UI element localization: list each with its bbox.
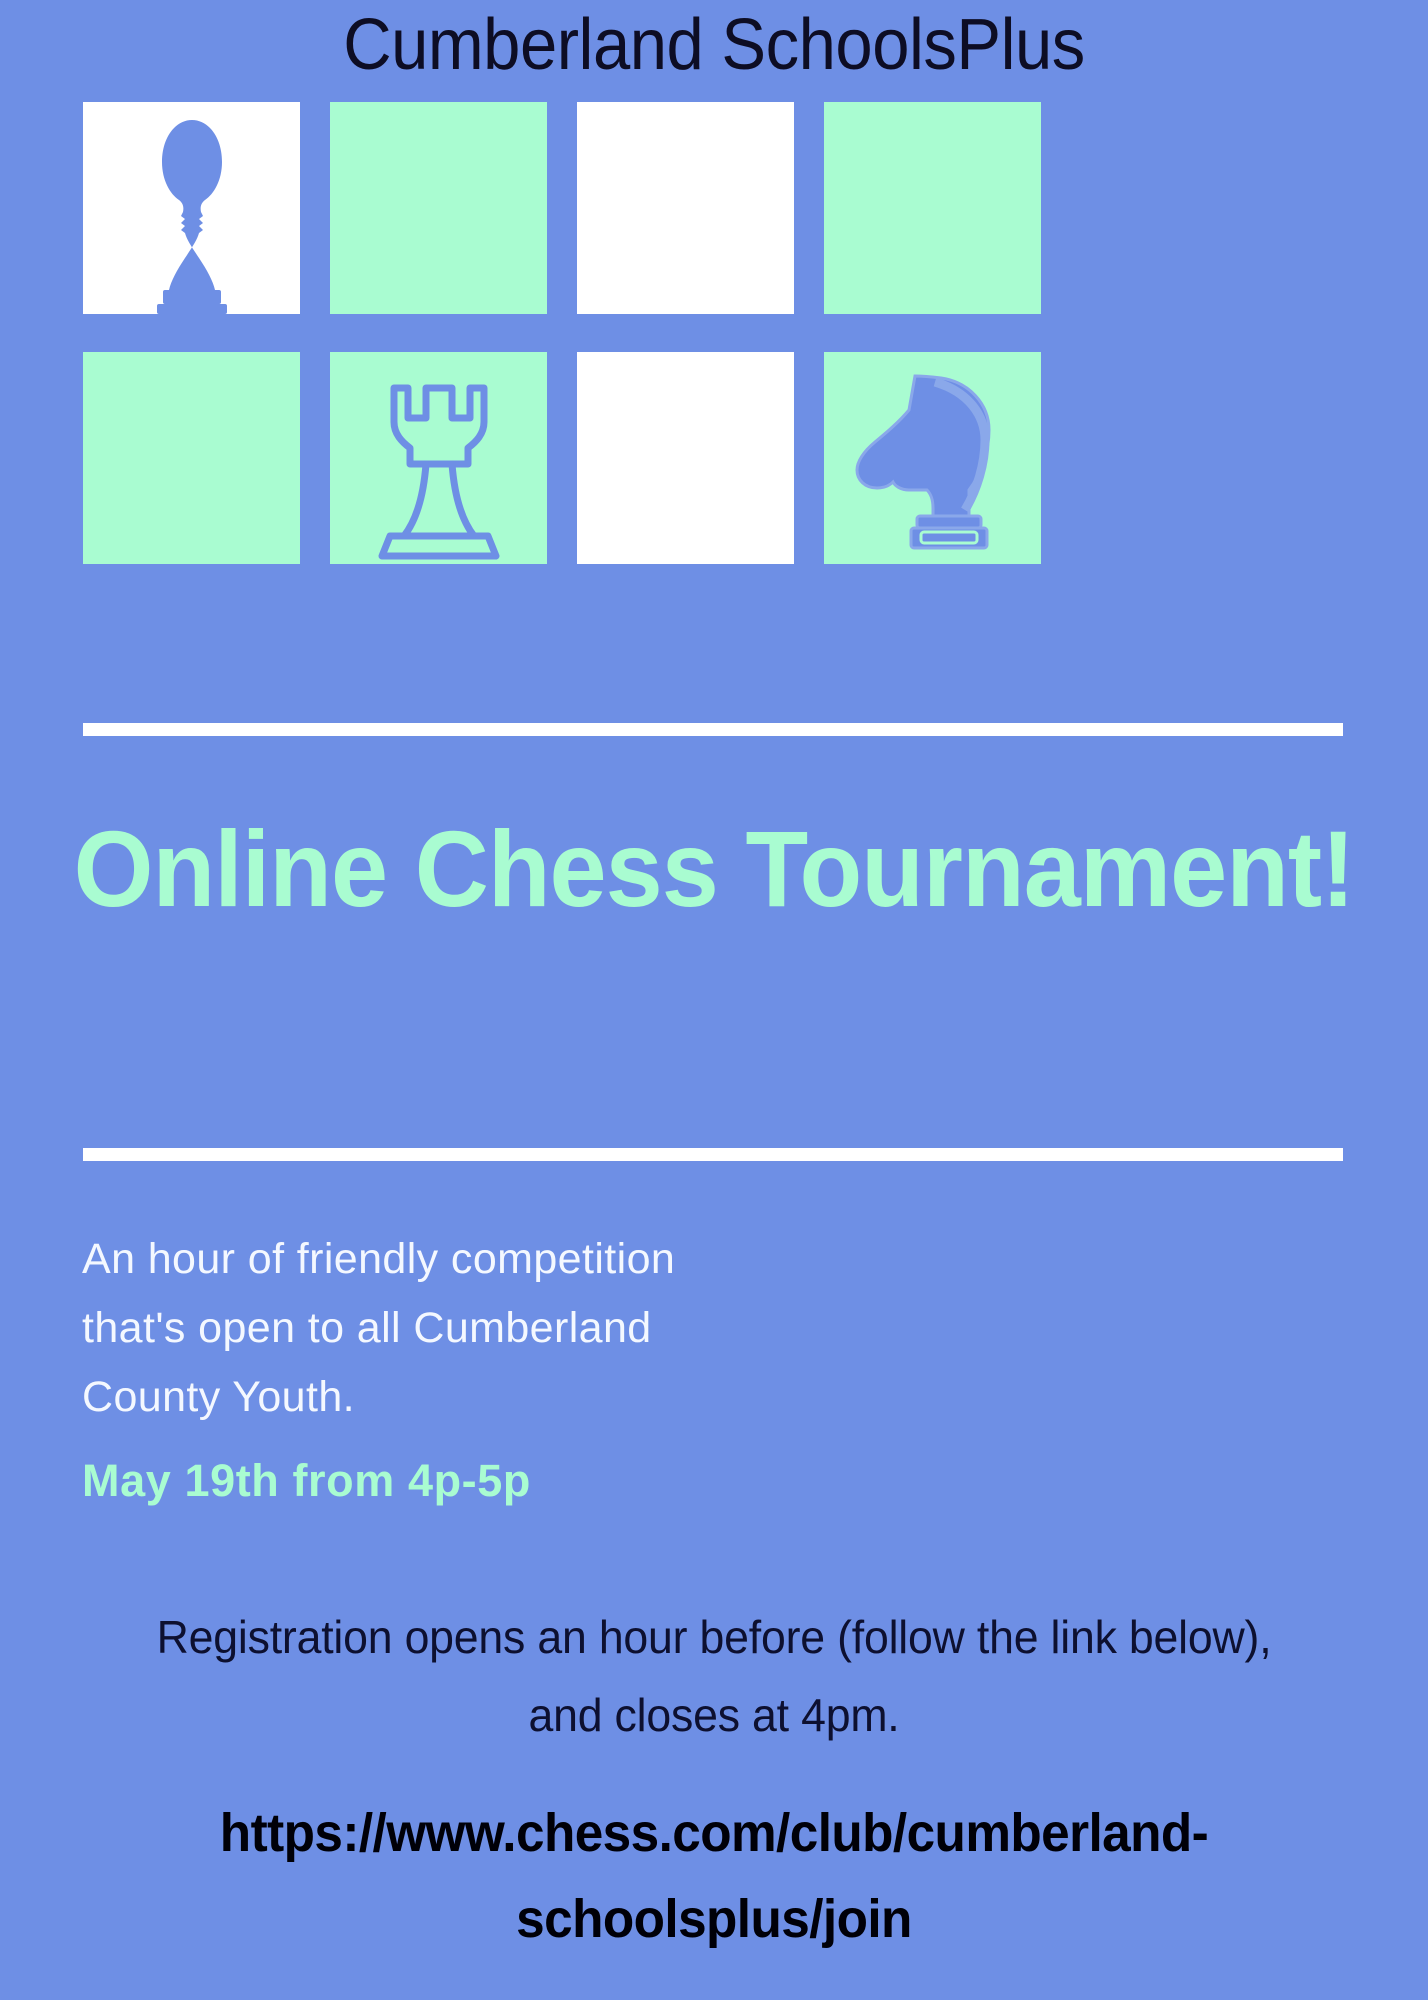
chess-rook-icon — [364, 378, 514, 564]
board-cell-r1c2 — [330, 102, 547, 314]
registration-note-line-2: and closes at 4pm. — [21, 1676, 1406, 1754]
registration-note-line-1: Registration opens an hour before (follo… — [21, 1598, 1406, 1676]
poster-canvas: Cumberland SchoolsPlus — [0, 0, 1428, 2000]
registration-note: Registration opens an hour before (follo… — [21, 1598, 1406, 1754]
description-text: An hour of friendly competition that's o… — [82, 1225, 982, 1432]
description-line-2: that's open to all Cumberland — [82, 1294, 982, 1363]
page-title: Cumberland SchoolsPlus — [50, 2, 1378, 88]
board-cell-r2c4 — [824, 352, 1041, 564]
signup-link-line-2: schoolsplus/join — [36, 1876, 1393, 1962]
headline-line-2: Tournament! — [745, 808, 1354, 929]
divider-top — [83, 723, 1343, 736]
board-cell-r2c1 — [83, 352, 300, 564]
board-cell-r1c4 — [824, 102, 1041, 314]
divider-bottom — [83, 1148, 1343, 1161]
board-cell-r2c2 — [330, 352, 547, 564]
board-cell-r1c3 — [577, 102, 794, 314]
board-cell-r1c1 — [83, 102, 300, 314]
board-cell-r2c3 — [577, 352, 794, 564]
chess-pawn-icon — [127, 118, 257, 314]
description-line-3: County Youth. — [82, 1363, 982, 1432]
headline: Online Chess Tournament! — [36, 798, 1393, 940]
signup-link-line-1: https://www.chess.com/club/cumberland- — [36, 1790, 1393, 1876]
chessboard-grid — [83, 102, 1343, 572]
headline-line-1: Online Chess — [74, 808, 718, 929]
event-datetime: May 19th from 4p-5p — [82, 1452, 982, 1510]
description-line-1: An hour of friendly competition — [82, 1225, 982, 1294]
signup-link[interactable]: https://www.chess.com/club/cumberland- s… — [36, 1790, 1393, 1962]
chess-knight-icon — [843, 370, 1023, 556]
